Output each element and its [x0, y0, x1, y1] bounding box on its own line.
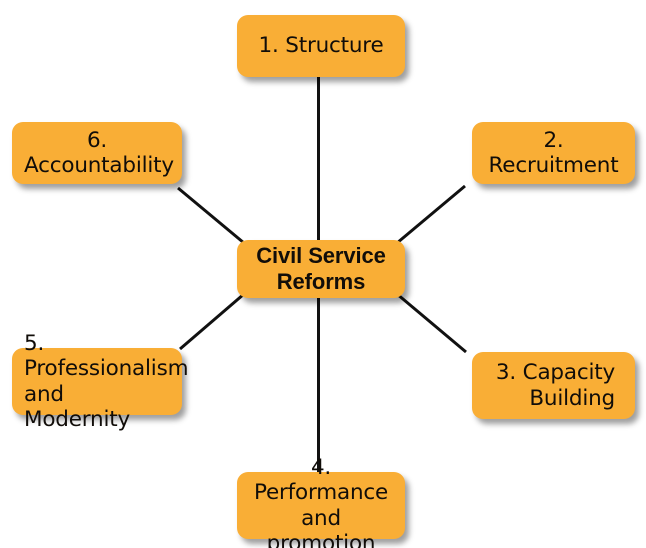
node-capacity-building[interactable]: 3. Capacity Building — [472, 352, 635, 419]
node-recruitment-label: 2. Recruitment — [484, 128, 623, 179]
node-civil-service-reforms[interactable]: Civil Service Reforms — [237, 240, 405, 298]
node-recruitment[interactable]: 2. Recruitment — [472, 122, 635, 184]
node-accountability[interactable]: 6. Accountability — [12, 122, 182, 184]
node-performance-and-promotion[interactable]: 4. Performance and promotion — [237, 472, 405, 539]
node-professionalism-and-modernity[interactable]: 5. Professionalism and Modernity — [12, 348, 182, 415]
node-capacity-building-label: 3. Capacity Building — [484, 360, 615, 411]
node-civil-service-reforms-label: Civil Service Reforms — [245, 243, 397, 296]
node-structure[interactable]: 1. Structure — [237, 15, 405, 77]
node-performance-and-promotion-label: 4. Performance and promotion — [247, 455, 395, 548]
node-structure-label: 1. Structure — [251, 33, 391, 58]
connector-hub-to-accountability — [178, 188, 244, 243]
node-professionalism-and-modernity-label: 5. Professionalism and Modernity — [24, 331, 174, 432]
connector-hub-to-capacity — [397, 294, 466, 352]
node-accountability-label: 6. Accountability — [24, 128, 170, 179]
diagram-canvas: 1. Structure 2. Recruitment 3. Capacity … — [0, 0, 646, 548]
connector-hub-to-professionalism — [180, 294, 244, 349]
connector-hub-to-recruitment — [397, 186, 465, 243]
